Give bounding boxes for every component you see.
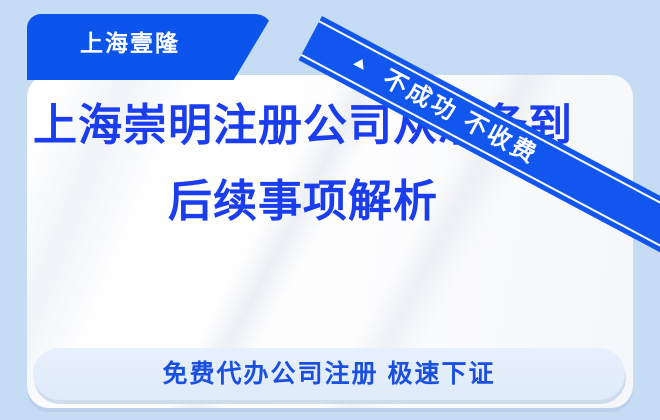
brand-tab[interactable]: 上海壹隆	[27, 14, 273, 80]
cta-pill[interactable]: 免费代办公司注册 极速下证	[33, 348, 625, 400]
promo-banner: 上海壹隆 上海崇明注册公司从准备到 后续事项解析 免费代办公司注册 极速下证 不…	[0, 0, 660, 420]
triangle-up-icon	[353, 56, 368, 70]
cta-pill-label: 免费代办公司注册 极速下证	[33, 348, 625, 400]
brand-tab-label: 上海壹隆	[27, 28, 233, 58]
